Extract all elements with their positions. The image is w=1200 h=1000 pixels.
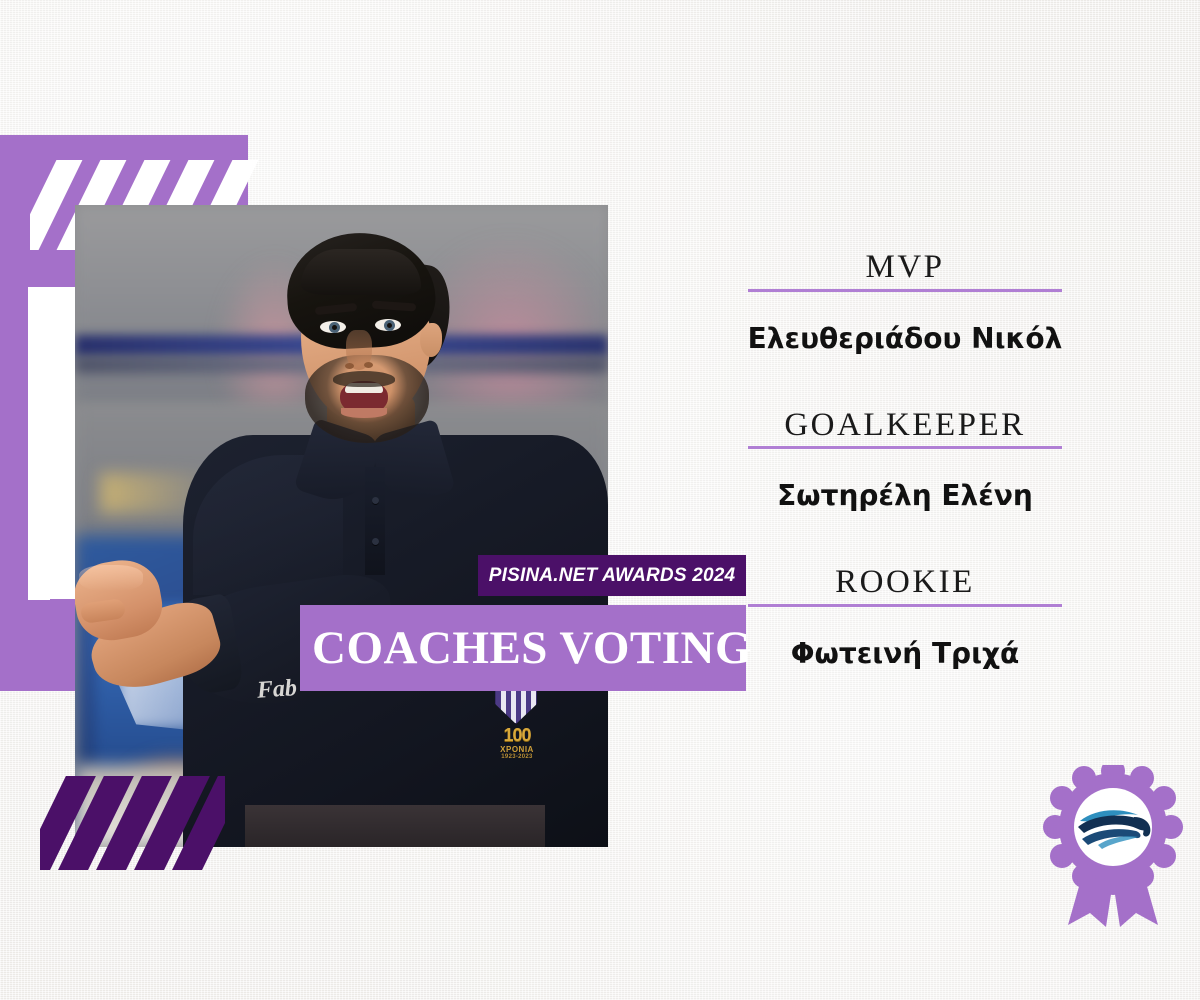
frame-white-inset [28, 287, 82, 599]
photo-mustache [333, 371, 395, 387]
photo-coach-hair-front [301, 249, 421, 295]
photo-shirt-placket [365, 467, 385, 575]
award-category-label: ROOKIE [740, 565, 1070, 600]
award-category-label: MVP [740, 250, 1070, 285]
award-winner-name: Σωτηρέλη Ελένη [740, 479, 1070, 512]
rosette-icon [1038, 765, 1188, 930]
award-winner-name: Ελευθεριάδου Νικόλ [740, 322, 1070, 355]
award-entry-goalkeeper: GOALKEEPER Σωτηρέλη Ελένη [740, 408, 1070, 513]
award-divider-rule [748, 289, 1062, 292]
photo-shirt-button-1 [372, 497, 379, 504]
photo-coach-knuckles [79, 565, 143, 591]
photo-lower-lip [341, 408, 387, 418]
photo-coach-trousers [245, 805, 545, 847]
page-title: COACHES VOTING [312, 621, 752, 675]
photo-shirt-button-2 [372, 538, 379, 545]
crest-anniversary-word: XPONIA [489, 745, 545, 754]
crest-anniversary-number: 100 [489, 726, 545, 746]
award-divider-rule [748, 604, 1062, 607]
awards-list: MVP Ελευθεριάδου Νικόλ GOALKEEPER Σωτηρέ… [740, 250, 1070, 670]
awards-eyebrow-banner: PISINA.NET AWARDS 2024 [478, 555, 746, 596]
photo-nostril-left [345, 363, 354, 369]
page-title-banner: COACHES VOTING [300, 605, 746, 691]
photo-nostril-right [364, 362, 373, 368]
award-winner-name: Φωτεινή Τριχά [740, 637, 1070, 670]
award-entry-mvp: MVP Ελευθεριάδου Νικόλ [740, 250, 1070, 355]
crest-anniversary-years: 1923-2023 [489, 754, 545, 760]
award-entry-rookie: ROOKIE Φωτεινή Τριχά [740, 565, 1070, 670]
coach-photo: Fab 100 XPONIA 1923-2023 [75, 205, 608, 847]
award-rosette-badge [1038, 765, 1188, 930]
photo-pupil-left [332, 325, 337, 330]
award-divider-rule [748, 446, 1062, 449]
photo-pupil-right [387, 323, 392, 328]
dark-diagonal-stripes [40, 776, 225, 870]
frame-white-inset-notch [28, 560, 50, 600]
award-category-label: GOALKEEPER [740, 408, 1070, 443]
photo-coach-ear [420, 323, 442, 357]
awards-eyebrow-text: PISINA.NET AWARDS 2024 [489, 565, 736, 587]
